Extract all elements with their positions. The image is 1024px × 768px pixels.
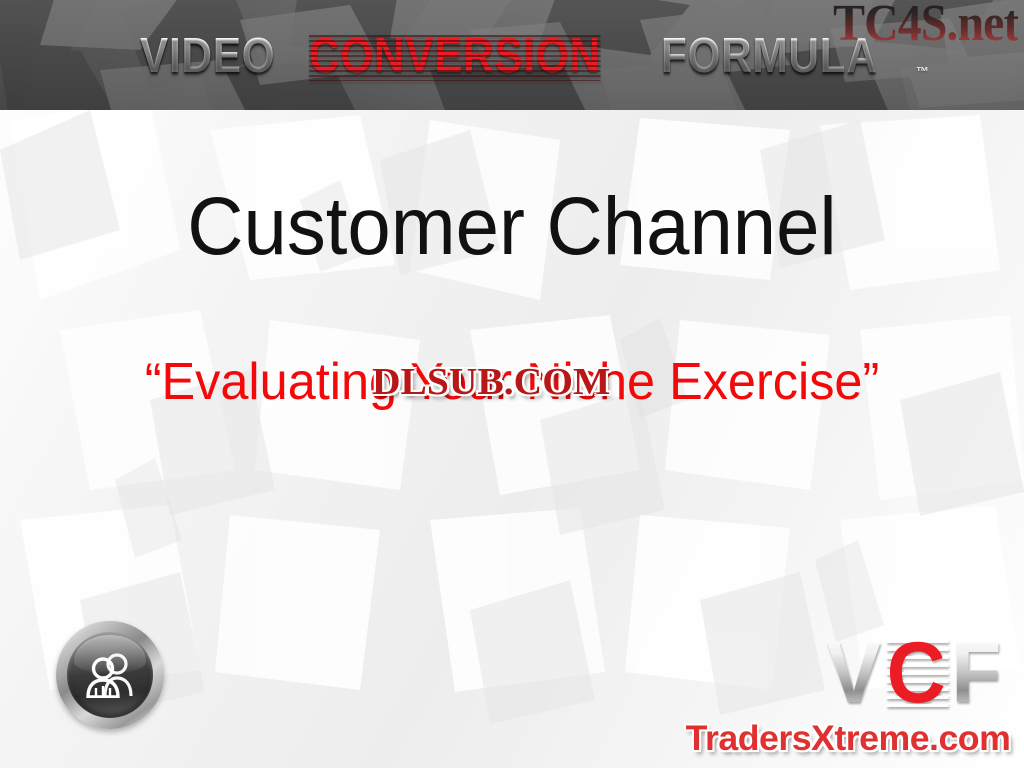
vcf-logo: V C F <box>825 635 1006 712</box>
vcf-letter-c: C <box>887 635 949 712</box>
users-badge <box>56 621 164 729</box>
dlsub-watermark: DLSUB.COM <box>372 363 610 401</box>
header-banner: VIDEO CONVERSION FORMULA ™ TC4S.net <box>0 0 1024 110</box>
brand-word-video: VIDEO <box>140 32 275 81</box>
tc4s-watermark: TC4S.net <box>833 0 1018 50</box>
users-badge-inner <box>67 632 153 718</box>
page-title: Customer Channel <box>26 186 999 268</box>
vcf-letter-f: F <box>952 635 1005 712</box>
trademark-symbol: ™ <box>916 65 929 78</box>
tradersxtreme-watermark: TradersXtreme.com <box>685 721 1010 756</box>
slide-canvas: VIDEO CONVERSION FORMULA ™ TC4S.net Cust… <box>0 0 1024 768</box>
vcf-letter-v: V <box>826 635 883 712</box>
brand-word-conversion: CONVERSION <box>309 32 601 81</box>
subtitle-block: “Evaluating Your Niche Exercise” DLSUB.C… <box>0 355 1024 415</box>
brand-lockup: VIDEO CONVERSION FORMULA ™ <box>140 32 929 81</box>
users-group-icon <box>81 652 139 698</box>
